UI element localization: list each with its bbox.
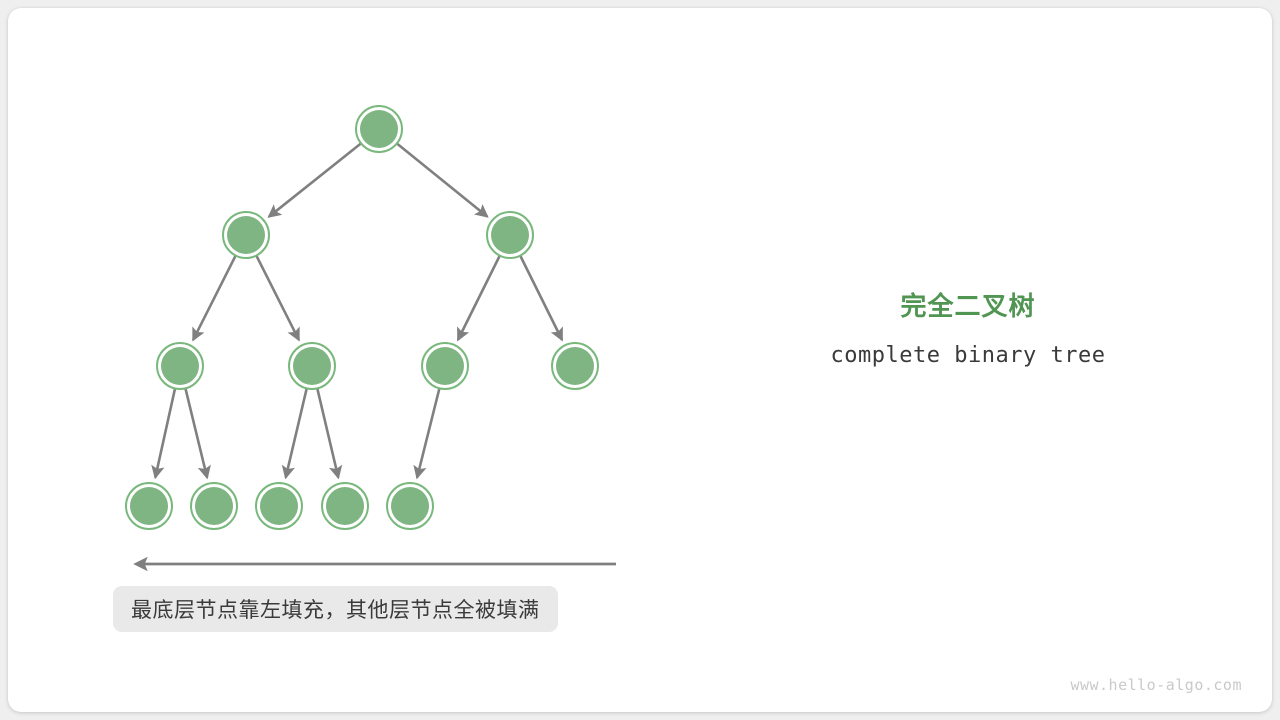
tree-node-fill [360,110,398,148]
tree-node-layer [126,106,598,529]
tree-node-fill [161,347,199,385]
tree-edge [398,144,487,216]
tree-node [552,343,598,389]
tree-node [487,212,533,258]
tree-node [322,483,368,529]
tree-edge [417,389,439,477]
caption-badge: 最底层节点靠左填充，其他层节点全被填满 [113,586,558,632]
tree-node [387,483,433,529]
tree-node-fill [491,216,529,254]
page-subtitle: complete binary tree [768,343,1168,368]
tree-edge-layer [155,144,561,477]
caption-text: 最底层节点靠左填充，其他层节点全被填满 [131,594,540,624]
tree-edge [155,389,174,476]
page-title: 完全二叉树 [768,290,1168,324]
tree-node-fill [227,216,265,254]
tree-node-fill [391,487,429,525]
tree-edge [193,256,235,339]
tree-node-fill [195,487,233,525]
title-block: 完全二叉树 complete binary tree [768,290,1168,368]
tree-edge [286,389,307,476]
tree-node-fill [293,347,331,385]
tree-node-fill [260,487,298,525]
tree-edge [257,256,299,339]
tree-edge [318,389,339,476]
tree-node [356,106,402,152]
tree-node-fill [556,347,594,385]
tree-node-fill [426,347,464,385]
tree-node [223,212,269,258]
watermark: www.hello-algo.com [1070,676,1242,694]
tree-node [289,343,335,389]
tree-edge [269,144,360,216]
diagram-stage: 完全二叉树 complete binary tree 最底层节点靠左填充，其他层… [0,0,1280,720]
tree-node [422,343,468,389]
tree-node-fill [326,487,364,525]
tree-node [126,483,172,529]
tree-node [191,483,237,529]
tree-edge [186,389,207,477]
tree-edge [521,256,562,339]
tree-node [256,483,302,529]
tree-node [157,343,203,389]
tree-edge [458,256,499,339]
tree-node-fill [130,487,168,525]
